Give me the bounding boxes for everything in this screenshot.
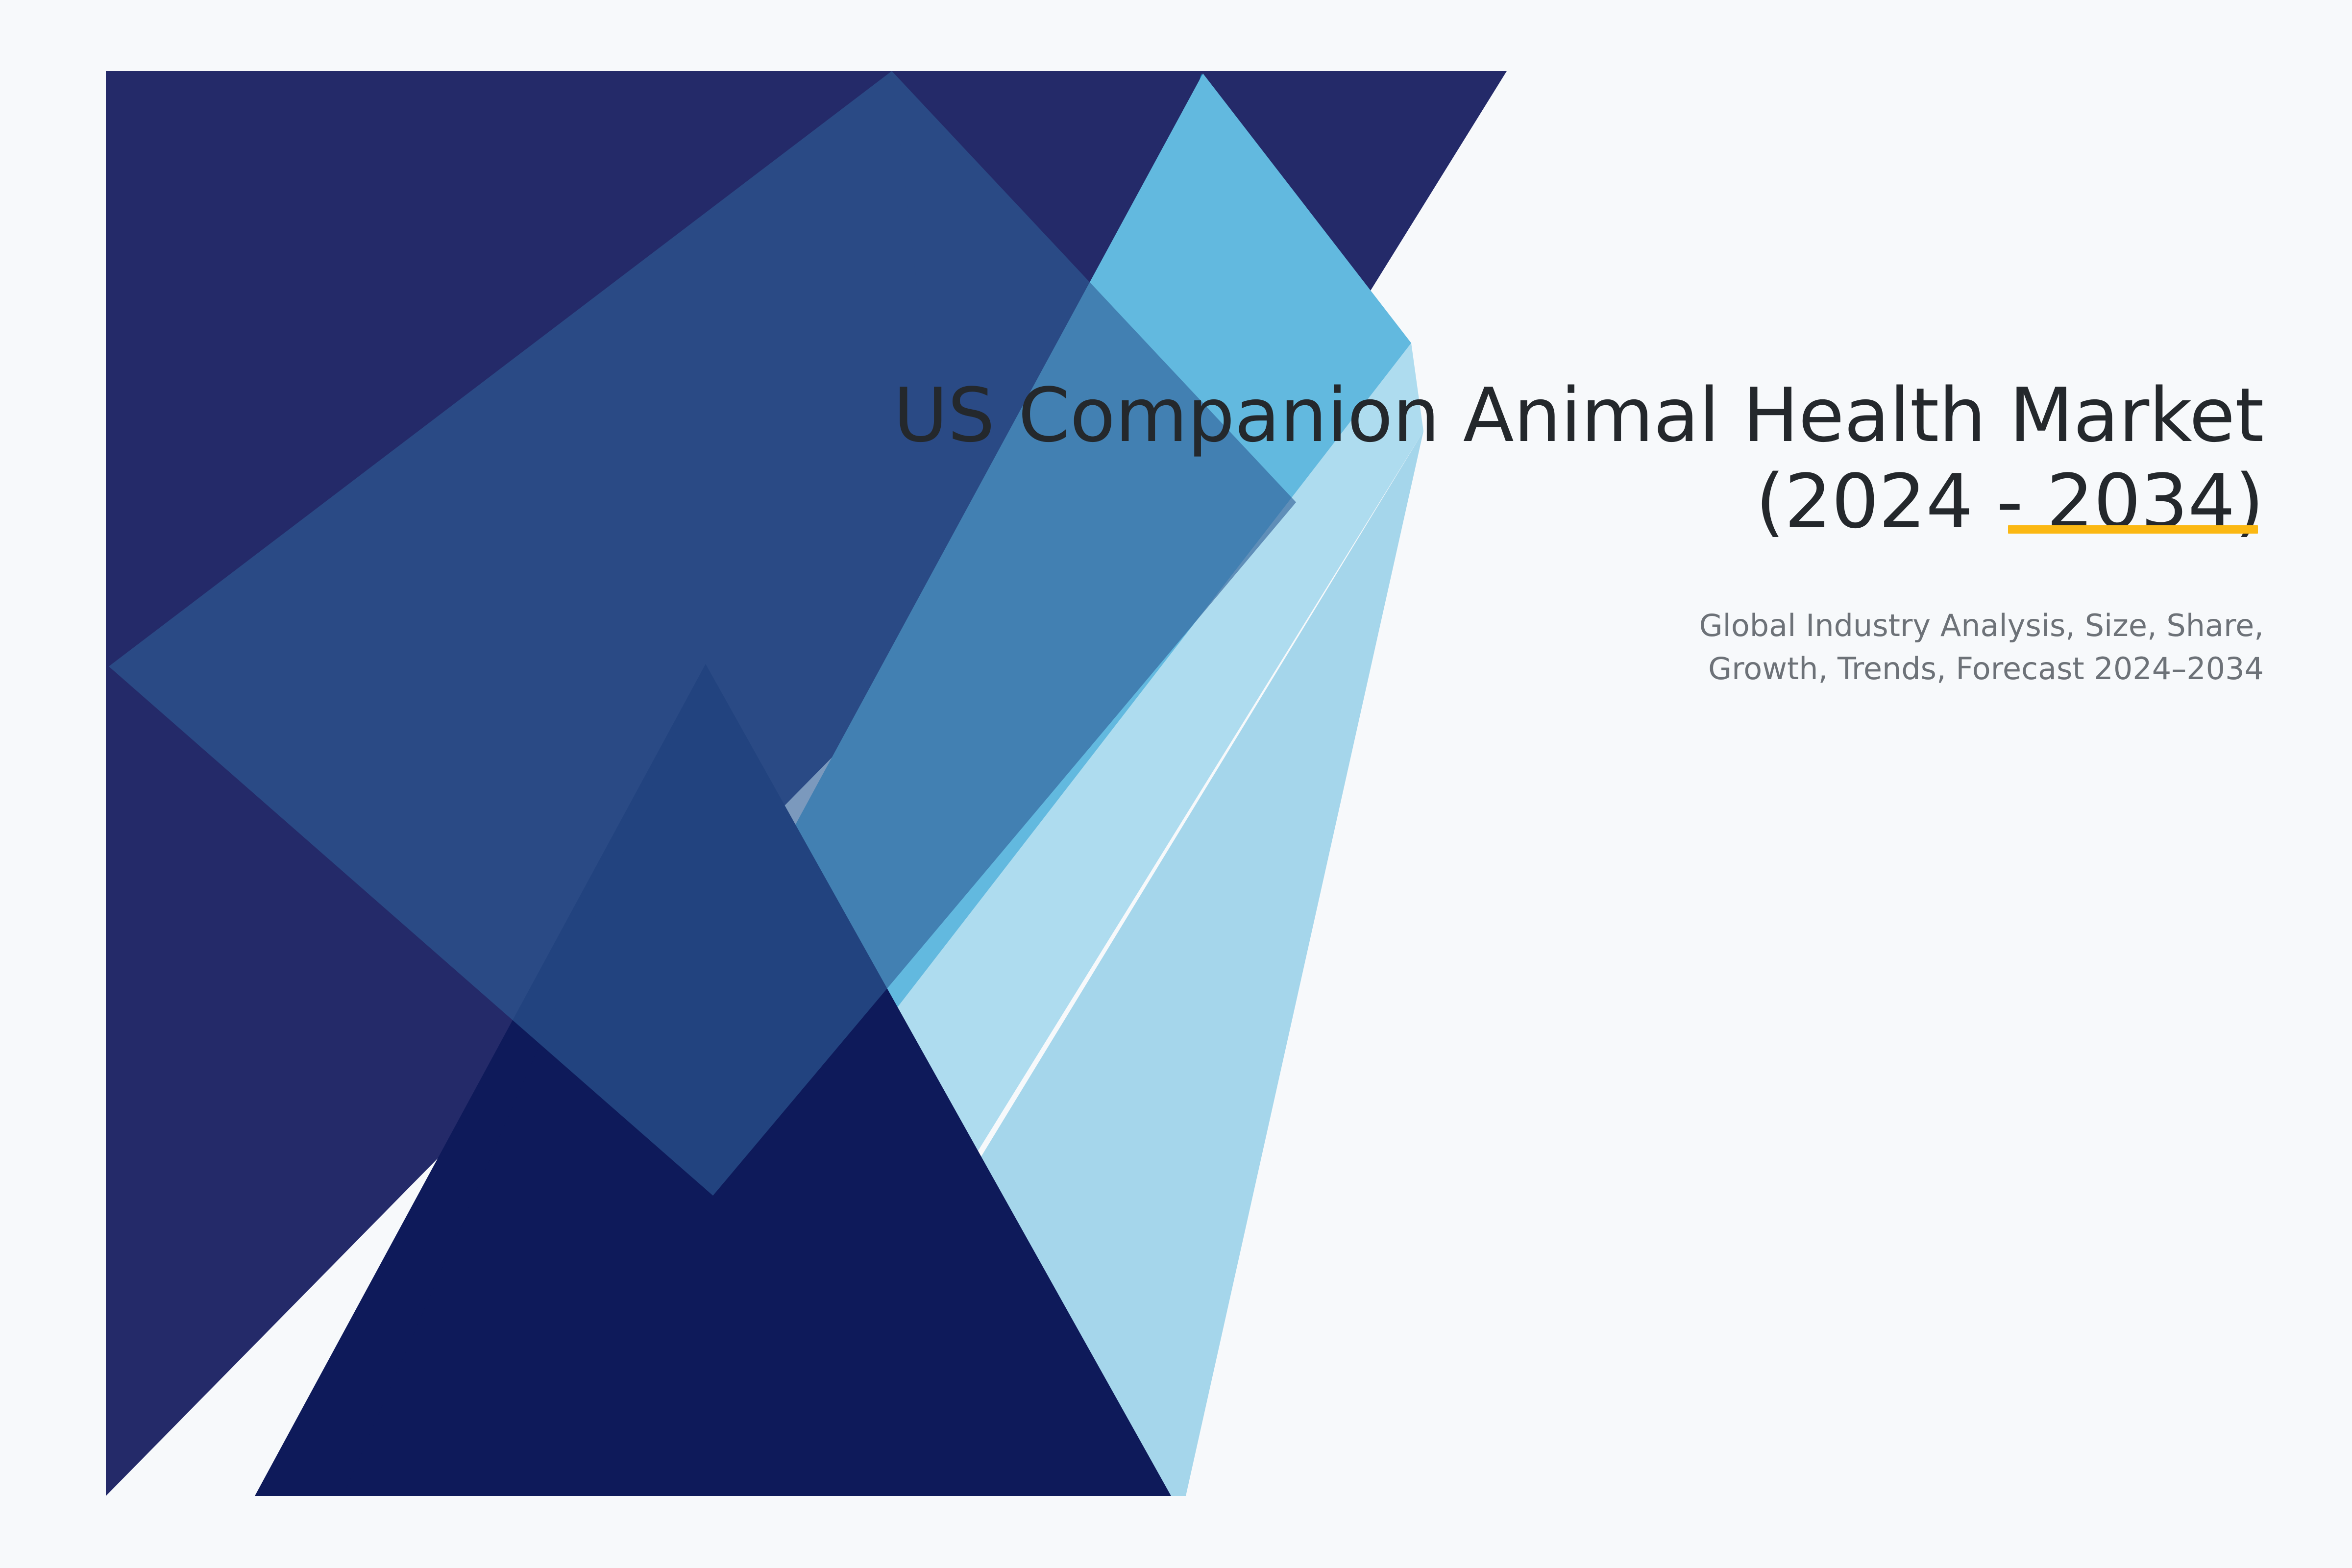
page-subtitle: Global Industry Analysis, Size, Share, G… xyxy=(794,604,2264,690)
report-cover-page: US Companion Animal Health Market (2024 … xyxy=(0,0,2352,1568)
title-line-primary: US Companion Animal Health Market xyxy=(794,372,2264,459)
page-title: US Companion Animal Health Market (2024 … xyxy=(794,372,2264,545)
subtitle-line-2: Growth, Trends, Forecast 2024–2034 xyxy=(794,647,2264,690)
title-underline-accent xyxy=(2008,525,2258,534)
subtitle-line-1: Global Industry Analysis, Size, Share, xyxy=(794,604,2264,647)
title-line-years: (2024 - 2034) xyxy=(1756,459,2264,545)
cover-artwork xyxy=(0,0,2352,1568)
cover-text-block: US Companion Animal Health Market (2024 … xyxy=(794,372,2264,690)
